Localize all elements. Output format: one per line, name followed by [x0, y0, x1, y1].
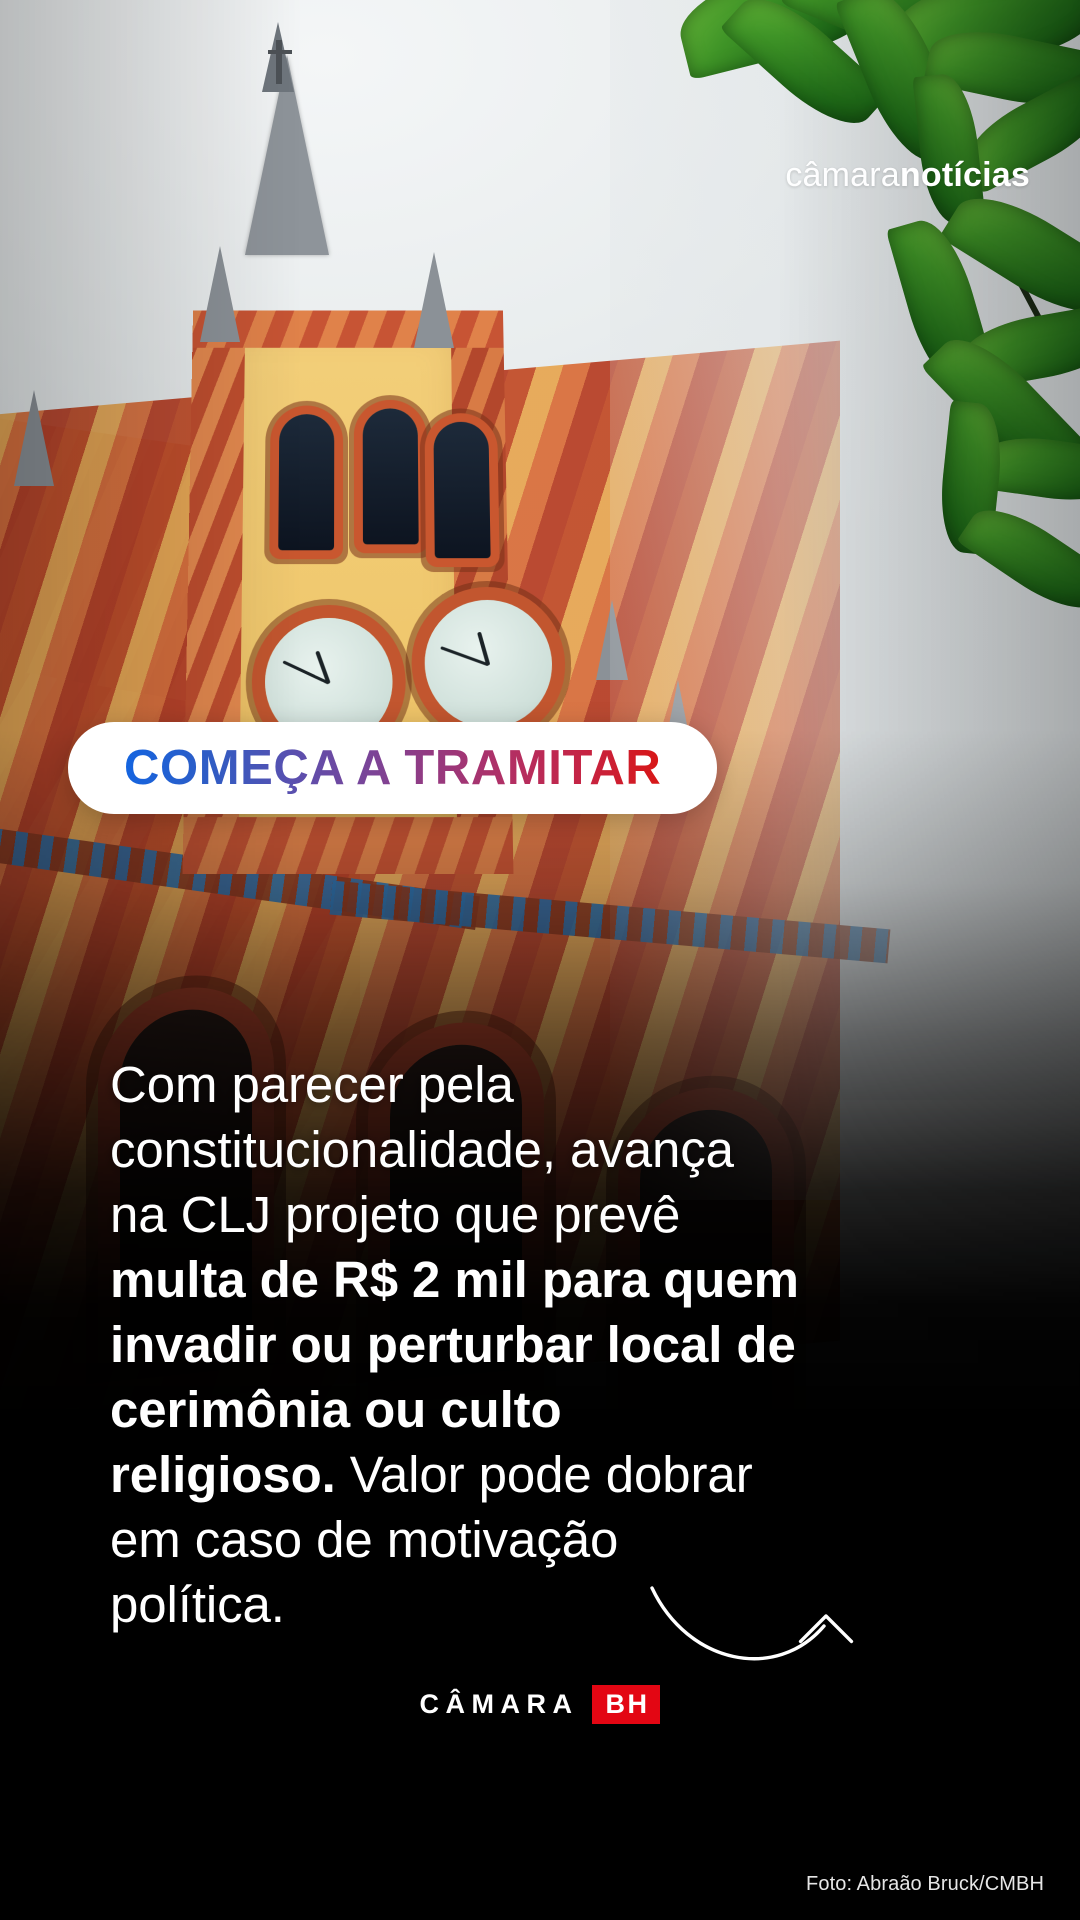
camara-bh-logo: CÂMARA BH [0, 1685, 1080, 1724]
summary-segment-1: Com parecer pela constitucionalidade, av… [110, 1056, 734, 1243]
logo-word-camara: CÂMARA [420, 1689, 579, 1720]
headline-text: COMEÇA A TRAMITAR [124, 740, 661, 796]
story-card: câmaranotícias COMEÇA A TRAMITAR Com par… [0, 0, 1080, 1920]
watermark-bold-part: notícias [900, 156, 1030, 194]
headline-pill[interactable]: COMEÇA A TRAMITAR [68, 722, 717, 814]
watermark-light-part: câmara [785, 156, 900, 194]
photo-credit: Foto: Abraão Bruck/CMBH [806, 1873, 1044, 1896]
logo-badge-bh: BH [592, 1685, 660, 1724]
curved-arrow-icon[interactable] [648, 1560, 888, 1690]
news-summary: Com parecer pela constitucionalidade, av… [110, 1052, 800, 1637]
camaranoticias-watermark: câmaranotícias [785, 156, 1030, 195]
